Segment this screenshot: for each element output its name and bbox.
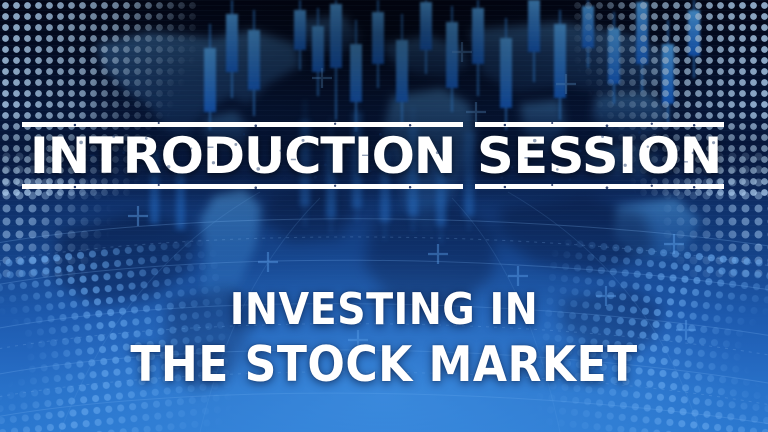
slide-canvas: INTRODUCTION: [0, 0, 768, 432]
title-rule-bottom-session: [475, 184, 724, 189]
title-word-introduction: INTRODUCTION: [22, 122, 463, 189]
slide-title: INTRODUCTION: [22, 122, 724, 189]
title-rule-bottom-introduction: [22, 184, 463, 189]
title-word-introduction-label: INTRODUCTION: [18, 131, 468, 181]
slide-subtitle: INVESTING IN THE STOCK MARKET: [0, 288, 768, 389]
title-word-session-label: SESSION: [473, 131, 727, 181]
title-word-session: SESSION: [475, 122, 724, 189]
subtitle-line-1: INVESTING IN: [38, 288, 729, 332]
subtitle-line-2: THE STOCK MARKET: [38, 340, 729, 389]
